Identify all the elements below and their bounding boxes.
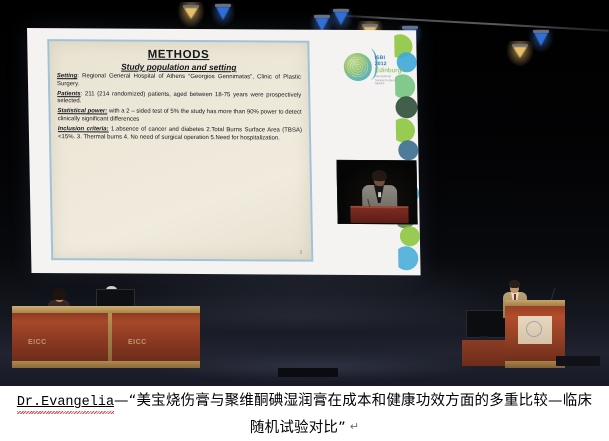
caption-line-2: 随机试验对比”↵ (0, 415, 609, 441)
panel-table: EICC EICC (12, 306, 200, 368)
monitor-stand (481, 336, 489, 340)
venue-mark-right: EICC (128, 339, 147, 346)
caption-block: Dr.Evangelia—“美宝烧伤膏与聚维酮碘湿润膏在成本和健康功效方面的多重… (0, 386, 609, 441)
slide-paragraph-patients: Patients: 211 (214 randomized) patients,… (57, 91, 301, 108)
paragraph-mark-icon: ↵ (350, 421, 359, 433)
slide-subtitle: Study population and setting (57, 61, 301, 72)
slide-label-patients: Patients (57, 91, 80, 97)
caption-dash: — (114, 393, 129, 409)
slide-paragraph-setting: Setting: Regional General Hospital of At… (57, 73, 301, 90)
slide-label-inclusion-criteria: Inclusion criteria: (58, 126, 109, 132)
speaker-side-table (462, 340, 510, 366)
slide-paragraph-inclusion-criteria: Inclusion criteria: 1.absence of cancer … (58, 126, 302, 143)
lectern-plaque (518, 316, 552, 344)
slide-text-patients: 211 (214 randomized) patients, aged betw… (57, 91, 301, 105)
venue-mark-left: EICC (28, 339, 47, 346)
stage-object-center (278, 368, 338, 377)
caption-line-1: Dr.Evangelia—“美宝烧伤膏与聚维酮碘湿润膏在成本和健康功效方面的多重… (0, 389, 609, 415)
slide-page-number: 3 (300, 250, 303, 255)
isbi-logo-line1: ISBI 2012 (375, 55, 397, 67)
slide-title: METHODS (56, 48, 300, 61)
caption-speaker-name: Dr.Evangelia (17, 395, 114, 411)
isbi-logo: ISBI 2012 Edinburgh International Societ… (343, 48, 396, 88)
caption-line-1-text: “美宝烧伤膏与聚维酮碘湿润膏在成本和健康功效方面的多重比较—临床 (129, 393, 592, 409)
screenshot-root: METHODS Study population and setting Set… (0, 0, 609, 441)
slide-label-statistical-power: Statistical power: (57, 109, 107, 115)
live-video-feed (336, 160, 417, 224)
caption-speaker-name-text: Dr.Evangelia (17, 395, 114, 410)
presentation-slide: METHODS Study population and setting Set… (47, 39, 313, 262)
conference-photo: METHODS Study population and setting Set… (0, 0, 609, 386)
spellcheck-underline (17, 411, 114, 414)
slide-label-setting: Setting (57, 73, 77, 79)
slide-text-setting: Regional General Hospital of Athens “Geo… (57, 73, 301, 87)
slide-paragraph-statistical-power: Statistical power: with a 2 – sided test… (57, 109, 301, 126)
isbi-logo-line3: International Society for Burn Injuries (375, 76, 397, 86)
stage-object-right (556, 356, 600, 366)
caption-line-2-text: 随机试验对比” (250, 420, 346, 436)
projection-screen: METHODS Study population and setting Set… (27, 28, 421, 275)
